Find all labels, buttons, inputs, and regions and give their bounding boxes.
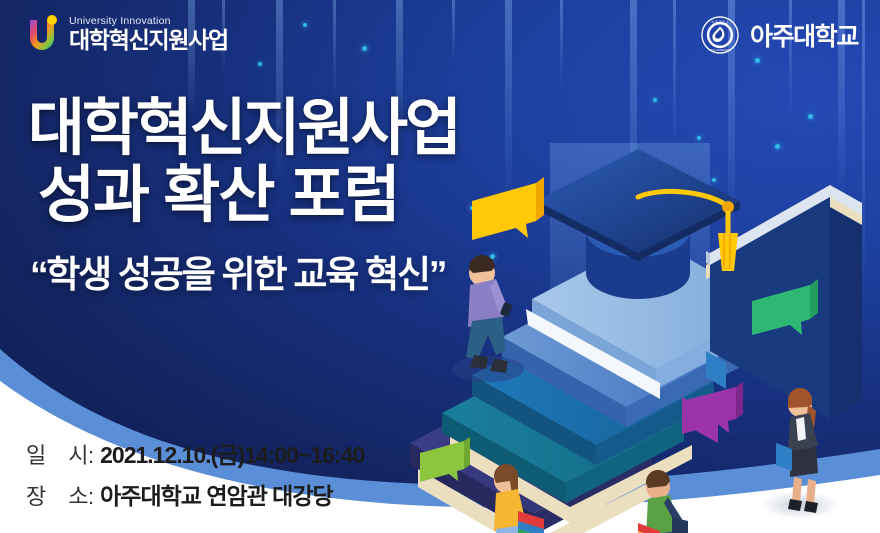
event-info-row-date: 일 시 : 2021.12.10.(금)14:00~16:40 [26, 436, 364, 470]
isometric-illustration [410, 113, 880, 533]
event-info-row-venue: 장 소 : 아주대학교 연암관 대강당 [26, 477, 364, 511]
poster-canvas: University Innovation 대학혁신지원사업 아 주 대 학 교… [0, 0, 880, 533]
svg-text:아 주 대 학 교: 아 주 대 학 교 [712, 19, 729, 24]
page-subtitle: “학생 성공을 위한 교육 혁신” [30, 244, 459, 298]
ajou-logo-label: 아주대학교 [750, 17, 858, 53]
info-label-venue-first: 장 [26, 479, 46, 511]
light-streak [560, 0, 563, 90]
event-venue-value: 아주대학교 연암관 대강당 [100, 477, 333, 511]
accent-dot [362, 46, 367, 51]
event-date-value: 2021.12.10.(금)14:00~16:40 [100, 436, 364, 470]
hero-title-block: 대학혁신지원사업 성과 확산 포럼 “학생 성공을 위한 교육 혁신” [28, 96, 459, 298]
accent-dot [755, 58, 760, 63]
info-colon-venue: : [88, 484, 94, 510]
figure-shadow [452, 356, 524, 382]
accent-dot [303, 23, 307, 27]
info-label-venue-second: 소 [68, 479, 88, 511]
logo-ko-label: 대학혁신지원사업 [69, 29, 228, 52]
info-label-date-second: 시 [68, 438, 88, 470]
info-label-date: 일 시 [26, 438, 88, 470]
speech-bubble-yellow [472, 177, 544, 240]
accent-dot [258, 62, 262, 66]
event-info-block: 일 시 : 2021.12.10.(금)14:00~16:40 장 소 : 아주… [26, 436, 364, 511]
info-label-date-first: 일 [26, 438, 46, 470]
logo-en-label: University Innovation [69, 16, 228, 27]
info-colon-date: : [88, 443, 94, 469]
light-streak [452, 0, 455, 62]
ajou-university-logo[interactable]: 아 주 대 학 교 AJOU UNIVERSITY 아주대학교 [701, 16, 858, 54]
ajou-university-emblem: 아 주 대 학 교 AJOU UNIVERSITY [701, 16, 739, 54]
page-edge [706, 263, 710, 279]
page-title-line-2: 성과 확산 포럼 [38, 163, 459, 230]
svg-text:AJOU UNIVERSITY: AJOU UNIVERSITY [709, 48, 732, 52]
page-title-line-1: 대학혁신지원사업 [28, 96, 459, 163]
light-streak [333, 0, 336, 96]
info-label-venue: 장 소 [26, 479, 88, 511]
accent-dot [653, 98, 657, 102]
university-innovation-logo[interactable]: University Innovation 대학혁신지원사업 [26, 14, 228, 54]
university-innovation-u-mark [26, 14, 60, 54]
